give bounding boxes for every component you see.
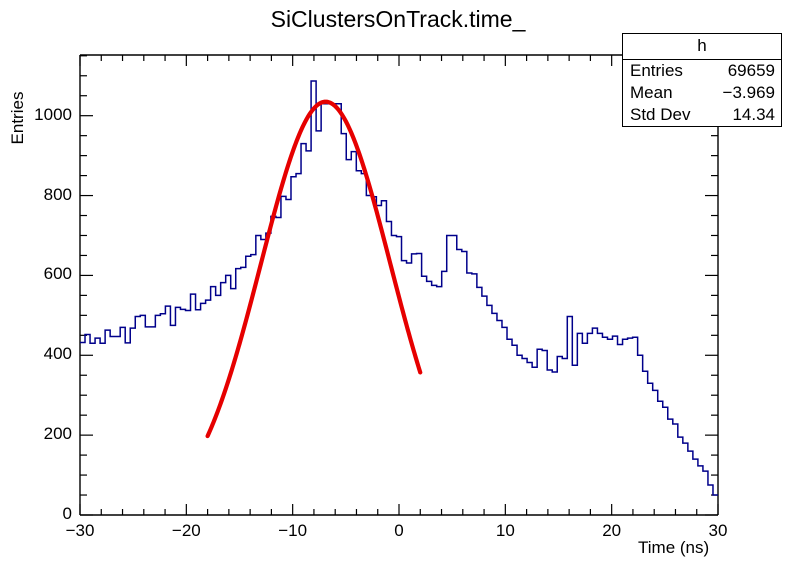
y-tick-label: 400 — [18, 344, 72, 364]
stats-key-stddev: Std Dev — [630, 105, 690, 125]
histogram-steps — [80, 81, 718, 495]
y-tick-label: 200 — [18, 424, 72, 444]
x-tick-label: −30 — [64, 521, 96, 541]
y-tick-label: 0 — [18, 504, 72, 524]
stats-box-title: h — [623, 34, 781, 60]
x-tick-label: 0 — [383, 521, 415, 541]
x-tick-label: −10 — [277, 521, 309, 541]
y-tick-label: 1000 — [18, 105, 72, 125]
stats-value-stddev: 14.34 — [732, 105, 775, 125]
stats-value-mean: −3.969 — [723, 83, 775, 103]
stats-row-stddev: Std Dev 14.34 — [623, 104, 781, 126]
y-tick-label: 800 — [18, 185, 72, 205]
stats-box[interactable]: h Entries 69659 Mean −3.969 Std Dev 14.3… — [622, 33, 782, 127]
x-tick-label: −20 — [170, 521, 202, 541]
x-tick-label: 20 — [596, 521, 628, 541]
stats-key-mean: Mean — [630, 83, 673, 103]
root-canvas: SiClustersOnTrack.time_ Entries Time (ns… — [0, 0, 796, 572]
x-tick-label: 30 — [702, 521, 734, 541]
stats-row-mean: Mean −3.969 — [623, 82, 781, 104]
x-tick-label: 10 — [489, 521, 521, 541]
stats-row-entries: Entries 69659 — [623, 60, 781, 82]
stats-key-entries: Entries — [630, 61, 683, 81]
y-tick-label: 600 — [18, 264, 72, 284]
stats-value-entries: 69659 — [728, 61, 775, 81]
